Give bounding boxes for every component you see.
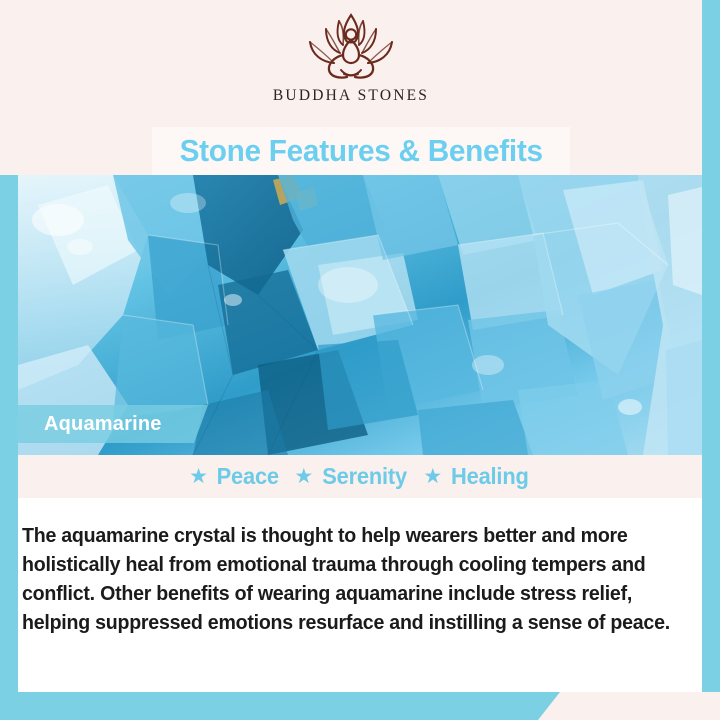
- benefit-item-healing: ★ Healing: [423, 463, 531, 490]
- star-icon: ★: [423, 466, 442, 487]
- stone-name-text: Aquamarine: [44, 413, 162, 436]
- title-banner: Stone Features & Benefits: [152, 127, 570, 175]
- decor-bar-right: [702, 22, 720, 692]
- benefit-label: Serenity: [322, 463, 407, 490]
- header: BUDDHA STONES Stone Features & Benefits: [0, 0, 702, 175]
- lotus-meditation-icon: [296, 8, 406, 86]
- benefit-label: Healing: [451, 463, 529, 490]
- brand-name: BUDDHA STONES: [0, 87, 702, 105]
- description-text: The aquamarine crystal is thought to hel…: [22, 522, 672, 638]
- star-icon: ★: [294, 466, 313, 487]
- benefit-label: Peace: [217, 463, 279, 490]
- stone-name-label: Aquamarine: [18, 405, 208, 443]
- page-title: Stone Features & Benefits: [179, 133, 542, 169]
- star-icon: ★: [189, 466, 208, 487]
- description-panel: The aquamarine crystal is thought to hel…: [18, 498, 702, 692]
- benefit-item-peace: ★ Peace: [189, 463, 280, 490]
- decor-bar-bottom: [0, 692, 560, 720]
- decor-bar-left: [0, 175, 18, 692]
- infographic-page: BUDDHA STONES Stone Features & Benefits: [0, 0, 720, 720]
- benefit-item-serenity: ★ Serenity: [294, 463, 409, 490]
- benefits-row: ★ Peace ★ Serenity ★ Healing: [18, 459, 702, 493]
- brand-logo: BUDDHA STONES: [0, 8, 702, 105]
